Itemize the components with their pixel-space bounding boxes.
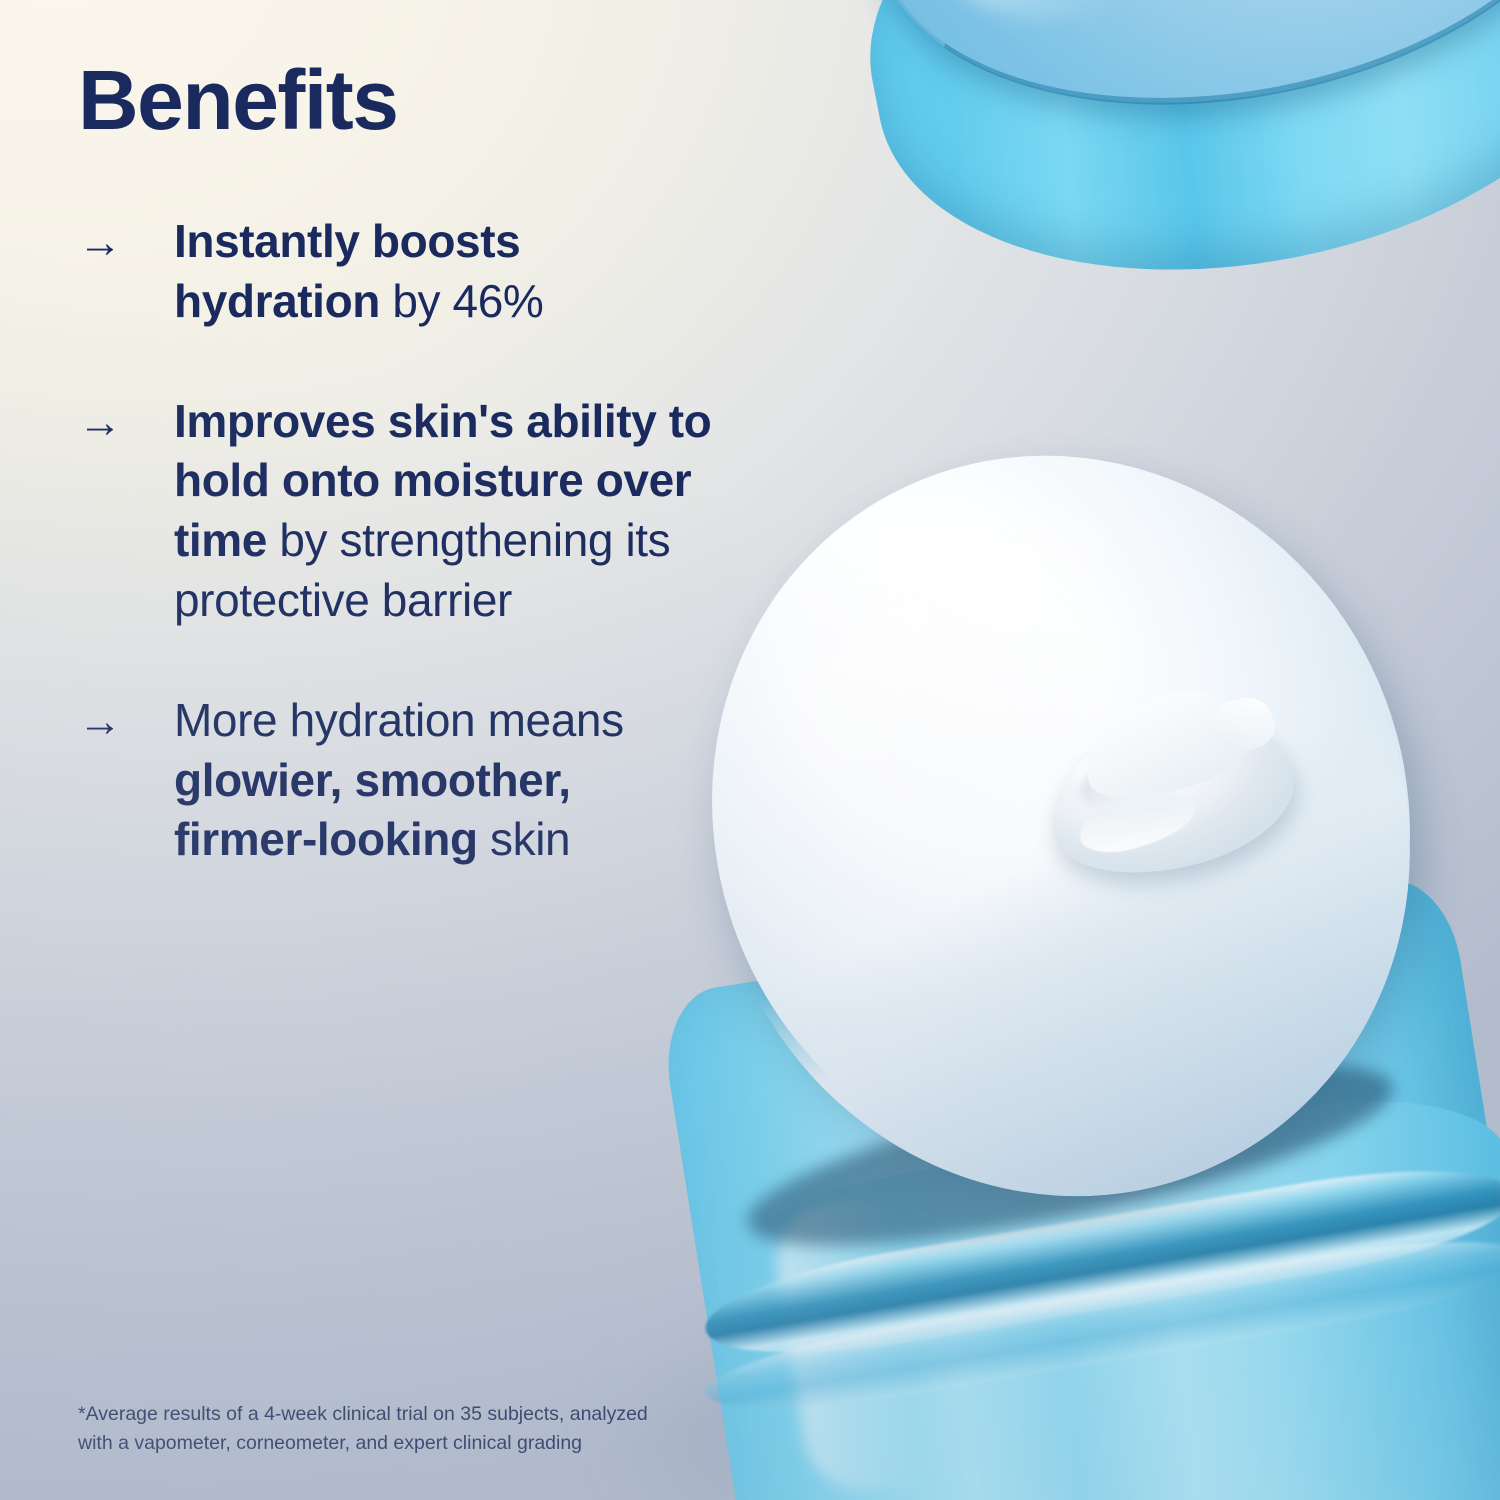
arrow-right-icon: → <box>78 691 174 753</box>
arrow-right-icon: → <box>78 392 174 454</box>
footnote-line-2: with a vapometer, corneometer, and exper… <box>78 1432 582 1454</box>
page-title: Benefits <box>78 58 397 142</box>
benefit-item-skin-appearance: → More hydration means glowier, smoother… <box>78 691 718 870</box>
footnote-line-1: *Average results of a 4-week clinical tr… <box>78 1403 648 1425</box>
benefits-list: → Instantly boosts hydration by 46% → Im… <box>78 212 718 870</box>
product-benefits-panel: Benefits → Instantly boosts hydration by… <box>0 0 1500 1500</box>
arrow-right-icon: → <box>78 212 174 274</box>
benefit-regular-tail: skin <box>478 813 571 865</box>
benefit-regular-tail: by 46% <box>380 275 543 327</box>
benefit-regular-lead: More hydration means <box>174 694 624 746</box>
text-content: Benefits → Instantly boosts hydration by… <box>0 0 1500 1500</box>
benefit-item-moisture-retention: → Improves skin's ability to hold onto m… <box>78 392 718 631</box>
benefit-text: Instantly boosts hydration by 46% <box>174 212 718 332</box>
clinical-trial-footnote: *Average results of a 4-week clinical tr… <box>78 1400 778 1458</box>
benefit-text: More hydration means glowier, smoother, … <box>174 691 718 870</box>
benefit-item-hydration-boost: → Instantly boosts hydration by 46% <box>78 212 718 332</box>
benefit-text: Improves skin's ability to hold onto moi… <box>174 392 718 631</box>
